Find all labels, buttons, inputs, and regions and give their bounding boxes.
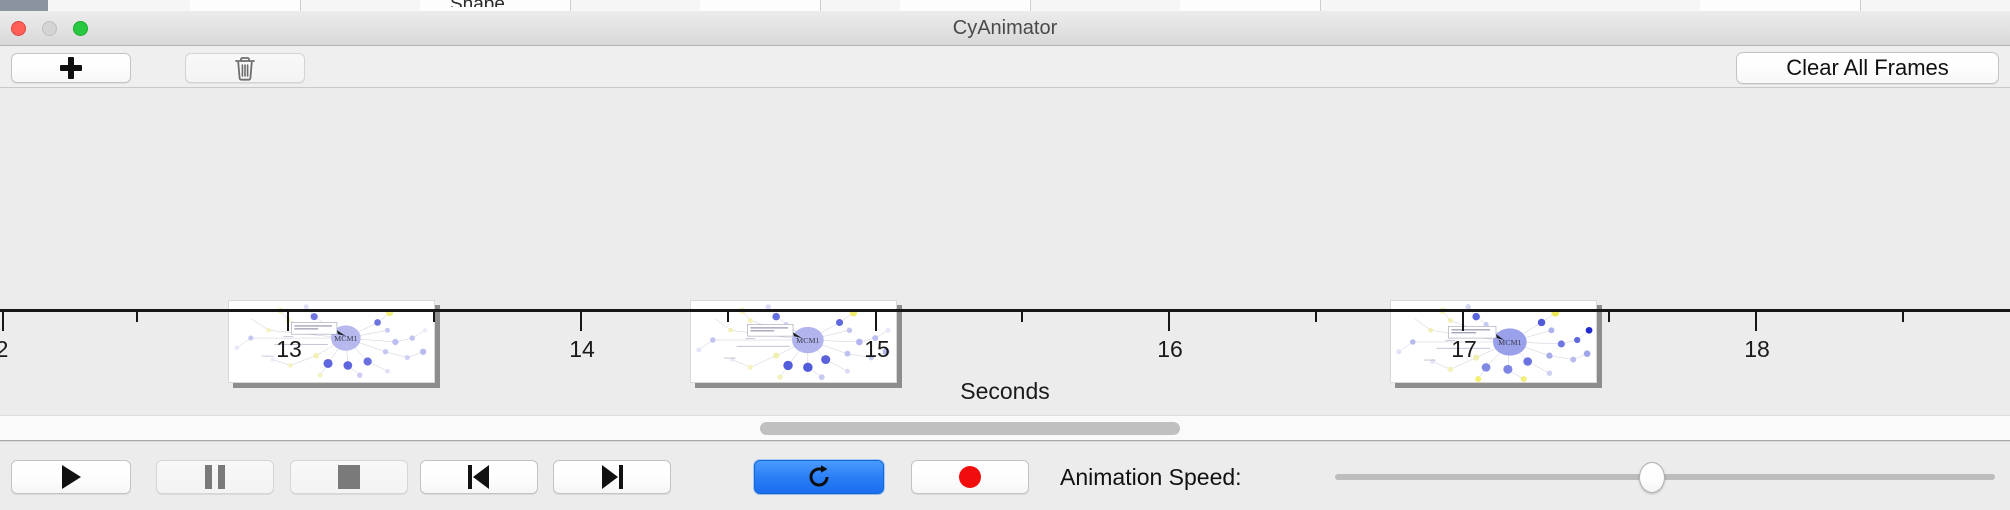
- ruler-tick-minor: [1902, 312, 1904, 322]
- window-title: CyAnimator: [0, 11, 2010, 46]
- timeline-frame[interactable]: MCM1: [228, 300, 440, 388]
- play-button[interactable]: [11, 460, 131, 494]
- animation-speed-slider[interactable]: [1335, 460, 1995, 494]
- timeline-axis-title: Seconds: [0, 378, 2010, 405]
- ruler-tick-minor: [1021, 312, 1023, 322]
- ruler-tick-major: [875, 312, 877, 331]
- horizontal-scrollbar[interactable]: [0, 415, 2010, 441]
- ruler-tick-minor: [727, 312, 729, 322]
- loop-button[interactable]: [754, 460, 884, 494]
- clear-all-frames-label: Clear All Frames: [1786, 55, 1949, 81]
- ruler-tick-major: [1755, 312, 1757, 331]
- cyanimator-window: Shape CyAnimator Clear All Frames: [0, 0, 2010, 510]
- ruler-label: 14: [569, 336, 595, 363]
- ruler-label: 17: [1451, 336, 1477, 363]
- frame-thumbnail: MCM1: [228, 300, 435, 383]
- ruler-label: 2: [0, 336, 8, 363]
- minimize-button[interactable]: [42, 21, 57, 36]
- ruler-tick-minor: [1315, 312, 1317, 322]
- playback-control-bar: Animation Speed:: [0, 441, 2010, 510]
- slider-track[interactable]: [1335, 474, 1995, 480]
- timeline-canvas[interactable]: MCM1: [0, 88, 2010, 415]
- ruler-label: 15: [864, 336, 890, 363]
- ruler-label: 18: [1744, 336, 1770, 363]
- title-bar: CyAnimator: [0, 11, 2010, 46]
- pause-icon: [205, 465, 225, 489]
- stop-button[interactable]: [290, 460, 408, 494]
- ruler-tick-major: [580, 312, 582, 331]
- network-graph-icon: MCM1: [1391, 301, 1596, 382]
- ruler-tick-minor: [1608, 312, 1610, 322]
- background-tab-label: Shape: [450, 0, 505, 7]
- ruler-label: 13: [276, 336, 302, 363]
- skip-back-icon: [468, 465, 490, 489]
- svg-text:MCM1: MCM1: [1498, 338, 1521, 347]
- network-graph-icon: MCM1: [229, 301, 434, 382]
- timeline-frame[interactable]: MCM1: [1390, 300, 1602, 388]
- ruler-tick-major: [1168, 312, 1170, 331]
- ruler-label: 16: [1157, 336, 1183, 363]
- slider-knob[interactable]: [1639, 462, 1665, 493]
- ruler-tick-minor: [433, 312, 435, 322]
- play-icon: [62, 465, 81, 489]
- zoom-button[interactable]: [73, 21, 88, 36]
- stop-icon: [338, 465, 360, 489]
- ruler-tick-major: [2, 312, 4, 331]
- toolbar: Clear All Frames: [0, 46, 2010, 88]
- pause-button[interactable]: [156, 460, 274, 494]
- svg-text:MCM1: MCM1: [796, 336, 819, 345]
- skip-to-start-button[interactable]: [420, 460, 538, 494]
- animation-speed-label: Animation Speed:: [1060, 460, 1242, 494]
- svg-text:MCM1: MCM1: [334, 334, 357, 343]
- record-button[interactable]: [911, 460, 1029, 494]
- timeline-ruler: [0, 309, 2010, 312]
- ruler-tick-major: [1462, 312, 1464, 331]
- ruler-tick-major: [287, 312, 289, 331]
- plus-icon: [60, 57, 82, 79]
- scrollbar-thumb[interactable]: [760, 422, 1180, 435]
- clear-all-frames-button[interactable]: Clear All Frames: [1736, 52, 1999, 84]
- skip-to-end-button[interactable]: [553, 460, 671, 494]
- add-frame-button[interactable]: [11, 53, 131, 83]
- close-button[interactable]: [11, 21, 26, 36]
- loop-icon: [806, 464, 832, 490]
- ruler-tick-minor: [136, 312, 138, 322]
- skip-forward-icon: [601, 465, 623, 489]
- frame-thumbnail: MCM1: [1390, 300, 1597, 383]
- delete-frame-button[interactable]: [185, 53, 305, 83]
- trash-icon: [233, 54, 257, 82]
- record-icon: [959, 466, 981, 488]
